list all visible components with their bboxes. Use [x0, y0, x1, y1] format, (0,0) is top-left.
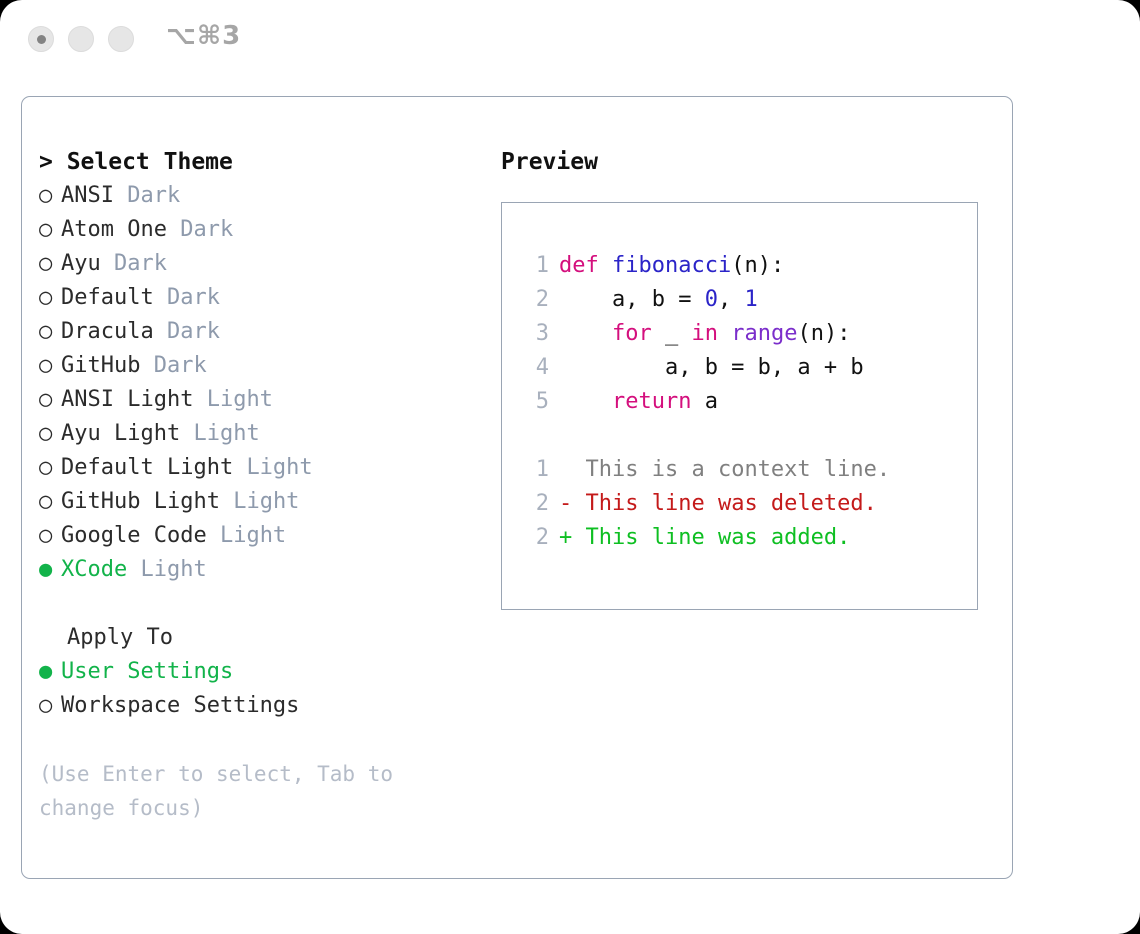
diff-line-text: This line was added. [586, 525, 851, 550]
diff-marker: + [559, 525, 586, 550]
code-line: 5 return a [523, 385, 890, 419]
theme-option-variant-tag: Light [207, 387, 273, 412]
radio-selected-icon: ● [39, 655, 61, 689]
radio-unselected-icon: ○ [39, 417, 61, 451]
theme-option[interactable]: ○Ayu Dark [39, 247, 479, 281]
diff-line-number: 2 [523, 487, 549, 521]
theme-option-variant-tag: Light [233, 489, 299, 514]
radio-unselected-icon: ○ [39, 451, 61, 485]
theme-option-label: ANSI [61, 183, 114, 208]
code-preview: 1def fibonacci(n):2 a, b = 0, 13 for _ i… [523, 249, 890, 555]
code-token [559, 389, 612, 414]
list-spacer [39, 587, 479, 621]
apply-to-option[interactable]: ●User Settings [39, 655, 479, 689]
code-line: 2 a, b = 0, 1 [523, 283, 890, 317]
code-token [559, 321, 612, 346]
theme-option-label: Ayu Light [61, 421, 180, 446]
radio-unselected-icon: ○ [39, 315, 61, 349]
diff-line-number: 2 [523, 521, 549, 555]
theme-option[interactable]: ●XCode Light [39, 553, 479, 587]
code-token: 1 [744, 287, 757, 312]
radio-unselected-icon: ○ [39, 213, 61, 247]
title-bar: ⌥⌘3 [0, 0, 1140, 78]
code-token: (n): [731, 253, 784, 278]
window-dot-minimize[interactable] [68, 26, 94, 52]
radio-unselected-icon: ○ [39, 349, 61, 383]
window-dot-maximize[interactable] [108, 26, 134, 52]
preview-column: Preview 1def fibonacci(n):2 a, b = 0, 13… [501, 145, 991, 610]
code-token [718, 321, 731, 346]
radio-unselected-icon: ○ [39, 247, 61, 281]
theme-option[interactable]: ○Google Code Light [39, 519, 479, 553]
diff-line: 2- This line was deleted. [523, 487, 890, 521]
theme-option-label: XCode [61, 557, 127, 582]
code-token: a, b = [559, 287, 705, 312]
code-token: return [612, 389, 691, 414]
code-token: in [691, 321, 718, 346]
theme-option[interactable]: ○Default Dark [39, 281, 479, 315]
theme-option-label: Dracula [61, 319, 154, 344]
theme-option-label: GitHub [61, 353, 140, 378]
preview-heading: Preview [501, 145, 991, 179]
diff-line-text: This line was deleted. [586, 491, 877, 516]
radio-unselected-icon: ○ [39, 383, 61, 417]
apply-to-option[interactable]: ○Workspace Settings [39, 689, 479, 723]
apply-to-option-label: User Settings [61, 659, 233, 684]
code-line: 4 a, b = b, a + b [523, 351, 890, 385]
code-token: range [731, 321, 797, 346]
theme-option[interactable]: ○GitHub Dark [39, 349, 479, 383]
code-token: 0 [705, 287, 718, 312]
select-theme-heading: > Select Theme [39, 145, 479, 179]
theme-option-label: Default Light [61, 455, 233, 480]
theme-option[interactable]: ○Default Light Light [39, 451, 479, 485]
theme-option-label: Atom One [61, 217, 167, 242]
code-token: , [718, 287, 745, 312]
app-window: ⌥⌘3 > Select Theme ○ANSI Dark○Atom One D… [0, 0, 1140, 934]
theme-option-variant-tag: Light [246, 455, 312, 480]
apply-to-option-label: Workspace Settings [61, 693, 299, 718]
diff-marker: - [559, 491, 586, 516]
theme-option-variant-tag: Dark [154, 353, 207, 378]
diff-line: 1 This is a context line. [523, 453, 890, 487]
theme-option-label: Ayu [61, 251, 101, 276]
window-dot-close[interactable] [28, 26, 54, 52]
theme-option[interactable]: ○ANSI Dark [39, 179, 479, 213]
code-line-number: 3 [523, 317, 549, 351]
keyboard-shortcut-label: ⌥⌘3 [166, 21, 241, 51]
theme-option-variant-tag: Dark [180, 217, 233, 242]
code-line: 3 for _ in range(n): [523, 317, 890, 351]
theme-picker-panel: > Select Theme ○ANSI Dark○Atom One Dark○… [21, 96, 1013, 879]
theme-option-label: GitHub Light [61, 489, 220, 514]
code-line: 1def fibonacci(n): [523, 249, 890, 283]
theme-option-variant-tag: Light [140, 557, 206, 582]
theme-option-variant-tag: Light [220, 523, 286, 548]
code-token: for [612, 321, 652, 346]
apply-to-heading: Apply To [39, 621, 479, 655]
code-line-number: 1 [523, 249, 549, 283]
theme-option-label: Google Code [61, 523, 207, 548]
theme-option-variant-tag: Light [193, 421, 259, 446]
code-line-number: 2 [523, 283, 549, 317]
window-dot-active-indicator [37, 35, 46, 44]
code-token: (n): [797, 321, 850, 346]
code-line-number: 5 [523, 385, 549, 419]
code-token: _ [652, 321, 692, 346]
radio-selected-icon: ● [39, 553, 61, 587]
theme-option[interactable]: ○Ayu Light Light [39, 417, 479, 451]
radio-unselected-icon: ○ [39, 281, 61, 315]
code-token: def [559, 253, 612, 278]
code-diff-separator [523, 419, 890, 453]
theme-option-variant-tag: Dark [114, 251, 167, 276]
theme-selection-column: > Select Theme ○ANSI Dark○Atom One Dark○… [39, 145, 479, 825]
radio-unselected-icon: ○ [39, 179, 61, 213]
diff-line: 2+ This line was added. [523, 521, 890, 555]
theme-option[interactable]: ○Atom One Dark [39, 213, 479, 247]
theme-option[interactable]: ○GitHub Light Light [39, 485, 479, 519]
window-controls [28, 26, 134, 52]
code-token: fibonacci [612, 253, 731, 278]
theme-option-variant-tag: Dark [127, 183, 180, 208]
theme-list: ○ANSI Dark○Atom One Dark○Ayu Dark○Defaul… [39, 179, 479, 587]
theme-option-label: Default [61, 285, 154, 310]
theme-option[interactable]: ○ANSI Light Light [39, 383, 479, 417]
code-token: a, b = b, a + b [559, 355, 864, 380]
code-token: a [691, 389, 718, 414]
preview-box: 1def fibonacci(n):2 a, b = 0, 13 for _ i… [501, 202, 978, 610]
apply-to-list: ●User Settings○Workspace Settings [39, 655, 479, 723]
diff-marker [559, 457, 586, 482]
theme-option-variant-tag: Dark [167, 285, 220, 310]
diff-line-text: This is a context line. [586, 457, 891, 482]
keyboard-hint: (Use Enter to select, Tab to change focu… [39, 757, 439, 825]
theme-option-variant-tag: Dark [167, 319, 220, 344]
code-line-number: 4 [523, 351, 549, 385]
radio-unselected-icon: ○ [39, 485, 61, 519]
radio-unselected-icon: ○ [39, 689, 61, 723]
theme-option-label: ANSI Light [61, 387, 193, 412]
theme-option[interactable]: ○Dracula Dark [39, 315, 479, 349]
radio-unselected-icon: ○ [39, 519, 61, 553]
diff-line-number: 1 [523, 453, 549, 487]
